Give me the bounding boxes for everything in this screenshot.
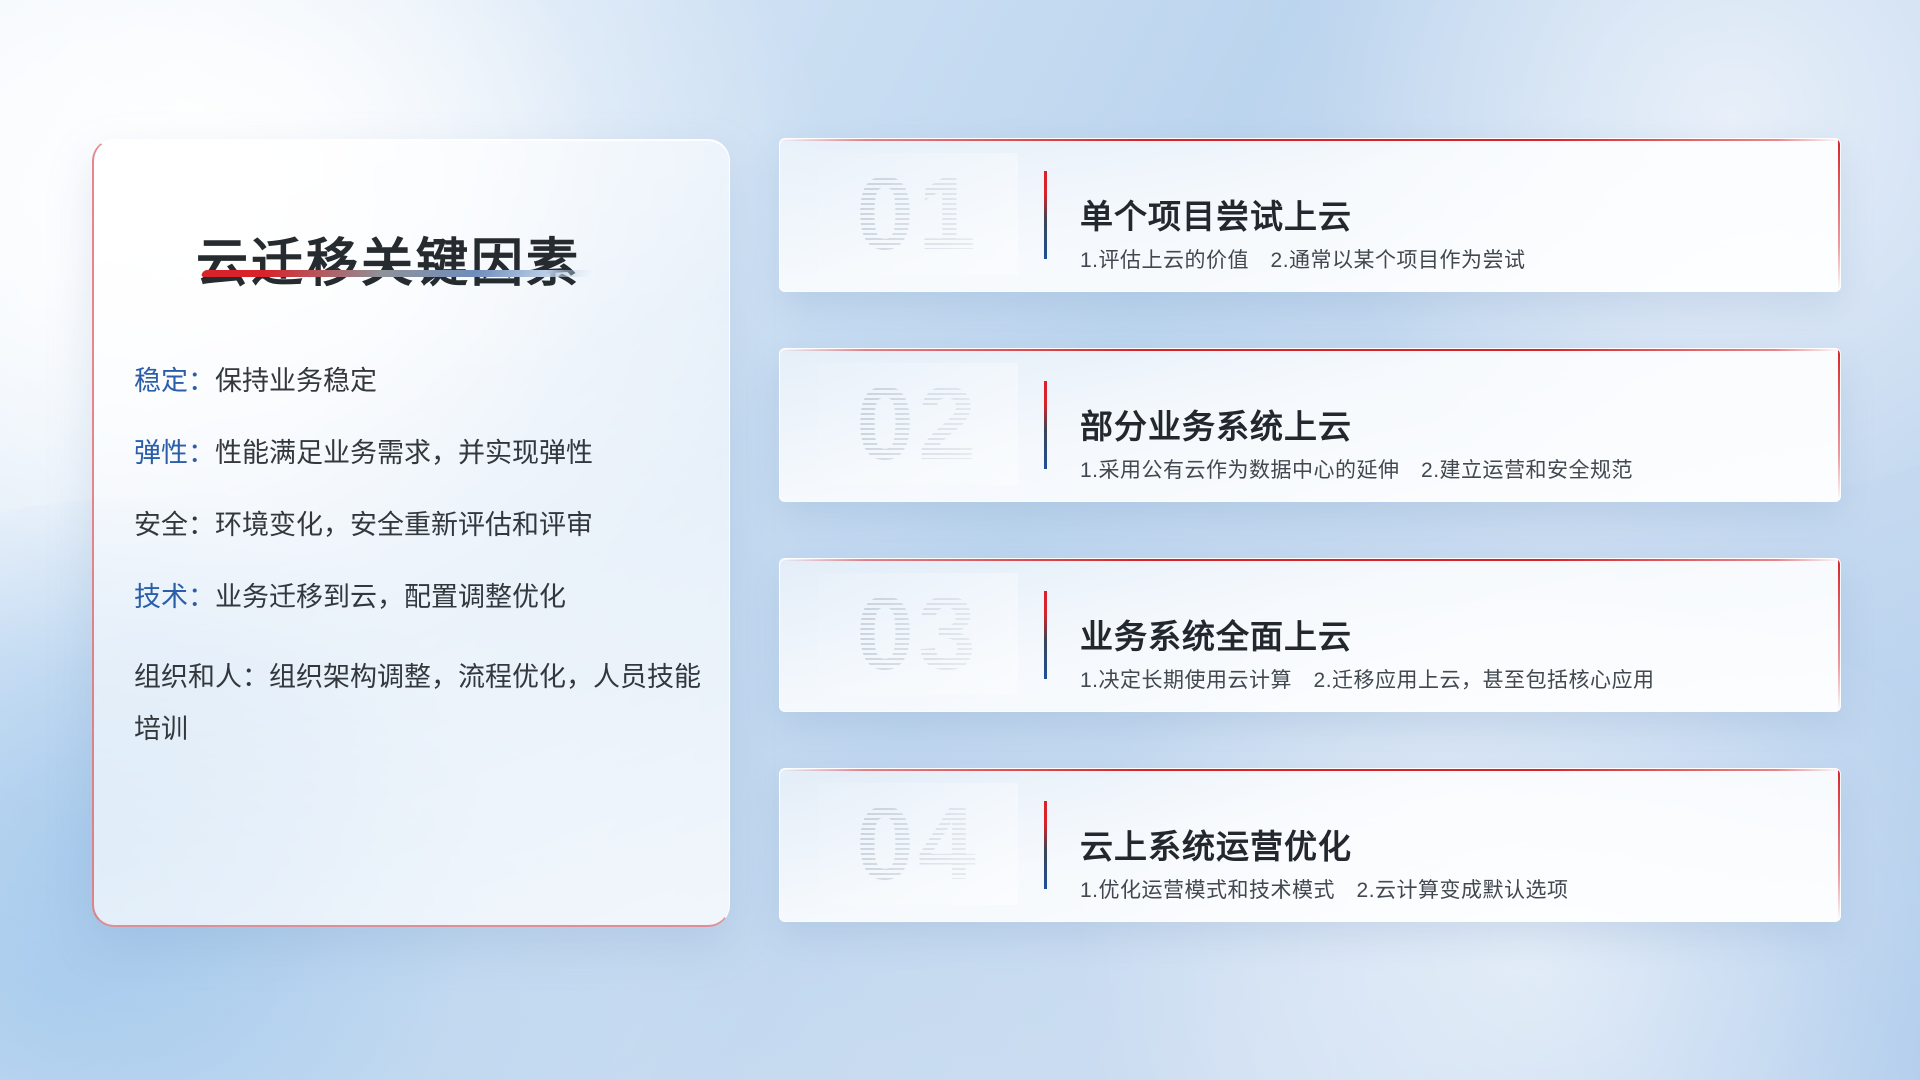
stage-card[interactable]: 01 单个项目尝试上云 1.评估上云的价值 2.通常以某个项目作为尝试	[779, 138, 1841, 292]
card-right-accent-line	[1838, 139, 1840, 291]
stage-heading: 业务系统全面上云	[1080, 610, 1352, 658]
stage-heading: 单个项目尝试上云	[1080, 190, 1352, 238]
stage-number: 04	[818, 783, 1018, 905]
stage-detail: 1.评估上云的价值 2.通常以某个项目作为尝试	[1080, 244, 1526, 274]
list-item: 弹性：性能满足业务需求，并实现弹性	[134, 434, 701, 473]
factor-value: 业务迁移到云，配置调整优化	[215, 582, 566, 612]
factor-label: 弹性：	[134, 438, 215, 468]
factor-label: 组织和人：	[134, 662, 269, 692]
key-factors-list: 稳定：保持业务稳定 弹性：性能满足业务需求，并实现弹性 安全：环境变化，安全重新…	[134, 362, 701, 756]
card-divider-bar	[1044, 381, 1047, 469]
card-top-accent-line	[780, 559, 1840, 561]
card-right-accent-line	[1838, 769, 1840, 921]
stage-detail: 1.优化运营模式和技术模式 2.云计算变成默认选项	[1080, 874, 1569, 904]
page-title: 云迁移关键因素	[196, 221, 581, 296]
stage-card[interactable]: 04 云上系统运营优化 1.优化运营模式和技术模式 2.云计算变成默认选项	[779, 768, 1841, 922]
factor-value: 性能满足业务需求，并实现弹性	[215, 438, 593, 468]
card-divider-bar	[1044, 801, 1047, 889]
card-right-accent-line	[1838, 559, 1840, 711]
stage-heading: 云上系统运营优化	[1080, 820, 1352, 868]
list-item: 稳定：保持业务稳定	[134, 362, 701, 401]
factor-value: 环境变化，安全重新评估和评审	[215, 510, 593, 540]
card-top-accent-line	[780, 139, 1840, 141]
stage-number: 02	[818, 363, 1018, 485]
stage-detail: 1.采用公有云作为数据中心的延伸 2.建立运营和安全规范	[1080, 454, 1633, 484]
stage-detail: 1.决定长期使用云计算 2.迁移应用上云，甚至包括核心应用	[1080, 664, 1655, 694]
title-underline-accent	[200, 270, 593, 277]
slide-canvas: 云迁移关键因素 稳定：保持业务稳定 弹性：性能满足业务需求，并实现弹性 安全：环…	[0, 0, 1920, 1080]
factor-value: 保持业务稳定	[215, 366, 377, 396]
list-item: 组织和人：组织架构调整，流程优化，人员技能培训	[134, 651, 701, 756]
card-right-accent-line	[1838, 349, 1840, 501]
factor-label: 技术：	[134, 582, 215, 612]
list-item: 技术：业务迁移到云，配置调整优化	[134, 578, 701, 617]
stage-number: 03	[818, 573, 1018, 695]
stage-heading: 部分业务系统上云	[1080, 400, 1352, 448]
list-item: 安全：环境变化，安全重新评估和评审	[134, 506, 701, 545]
card-top-accent-line	[780, 769, 1840, 771]
key-factors-panel: 云迁移关键因素 稳定：保持业务稳定 弹性：性能满足业务需求，并实现弹性 安全：环…	[92, 139, 730, 927]
stage-card[interactable]: 03 业务系统全面上云 1.决定长期使用云计算 2.迁移应用上云，甚至包括核心应…	[779, 558, 1841, 712]
factor-label: 稳定：	[134, 366, 215, 396]
stage-card[interactable]: 02 部分业务系统上云 1.采用公有云作为数据中心的延伸 2.建立运营和安全规范	[779, 348, 1841, 502]
factor-label: 安全：	[134, 510, 215, 540]
card-top-accent-line	[780, 349, 1840, 351]
card-divider-bar	[1044, 171, 1047, 259]
migration-stage-cards: 01 单个项目尝试上云 1.评估上云的价值 2.通常以某个项目作为尝试 02 部…	[779, 138, 1841, 922]
stage-number: 01	[818, 153, 1018, 275]
card-divider-bar	[1044, 591, 1047, 679]
